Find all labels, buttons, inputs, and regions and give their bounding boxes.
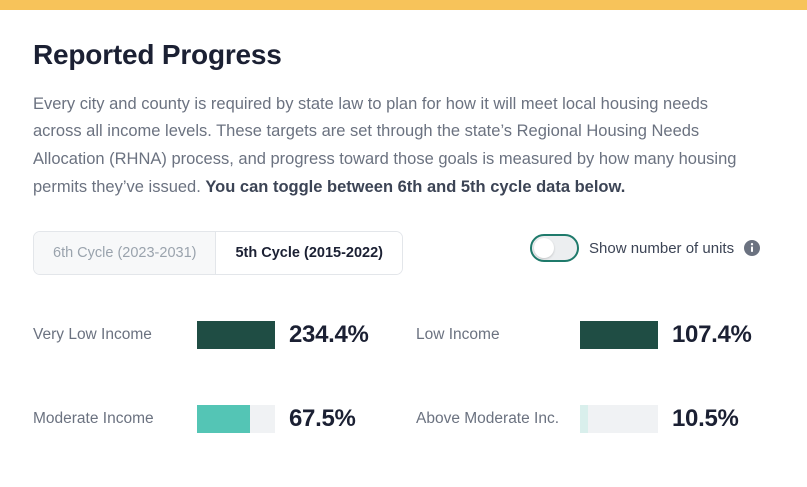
tab-6th-cycle[interactable]: 6th Cycle (2023-2031) — [34, 232, 216, 274]
progress-row-very-low-income: Very Low Income 234.4% — [33, 311, 416, 359]
units-toggle-group: Show number of units — [530, 234, 760, 262]
progress-row-moderate-income: Moderate Income 67.5% — [33, 395, 416, 443]
info-circle-icon[interactable] — [744, 240, 760, 256]
page-title: Reported Progress — [33, 38, 774, 72]
bar-fill — [197, 321, 275, 349]
row-label: Above Moderate Inc. — [416, 407, 580, 431]
content-area: Reported Progress Every city and county … — [0, 10, 807, 443]
row-value: 107.4% — [672, 321, 752, 349]
bar-fill — [580, 405, 588, 433]
progress-row-low-income: Low Income 107.4% — [416, 311, 799, 359]
row-label: Very Low Income — [33, 323, 197, 347]
bar-track — [197, 405, 275, 433]
progress-row-above-moderate-income: Above Moderate Inc. 10.5% — [416, 395, 799, 443]
tab-5th-cycle[interactable]: 5th Cycle (2015-2022) — [216, 232, 402, 274]
row-value: 234.4% — [289, 321, 369, 349]
switch-knob — [534, 238, 554, 258]
intro-paragraph: Every city and county is required by sta… — [33, 91, 748, 202]
show-units-switch[interactable] — [530, 234, 579, 262]
progress-bar-grid: Very Low Income 234.4% Low Income 107.4%… — [33, 311, 774, 443]
bar-fill — [580, 321, 658, 349]
top-accent-bar — [0, 0, 807, 10]
row-label: Low Income — [416, 323, 580, 347]
row-value: 67.5% — [289, 405, 356, 433]
row-label: Moderate Income — [33, 407, 197, 431]
controls-row: 6th Cycle (2023-2031) 5th Cycle (2015-20… — [33, 231, 774, 275]
bar-track — [197, 321, 275, 349]
cycle-tab-group[interactable]: 6th Cycle (2023-2031) 5th Cycle (2015-20… — [33, 231, 403, 275]
bar-track — [580, 321, 658, 349]
reported-progress-page: Reported Progress Every city and county … — [0, 0, 807, 487]
bar-track — [580, 405, 658, 433]
intro-emphasis-text: You can toggle between 6th and 5th cycle… — [205, 178, 625, 196]
show-units-label: Show number of units — [589, 240, 734, 257]
row-value: 10.5% — [672, 405, 739, 433]
bar-fill — [197, 405, 250, 433]
